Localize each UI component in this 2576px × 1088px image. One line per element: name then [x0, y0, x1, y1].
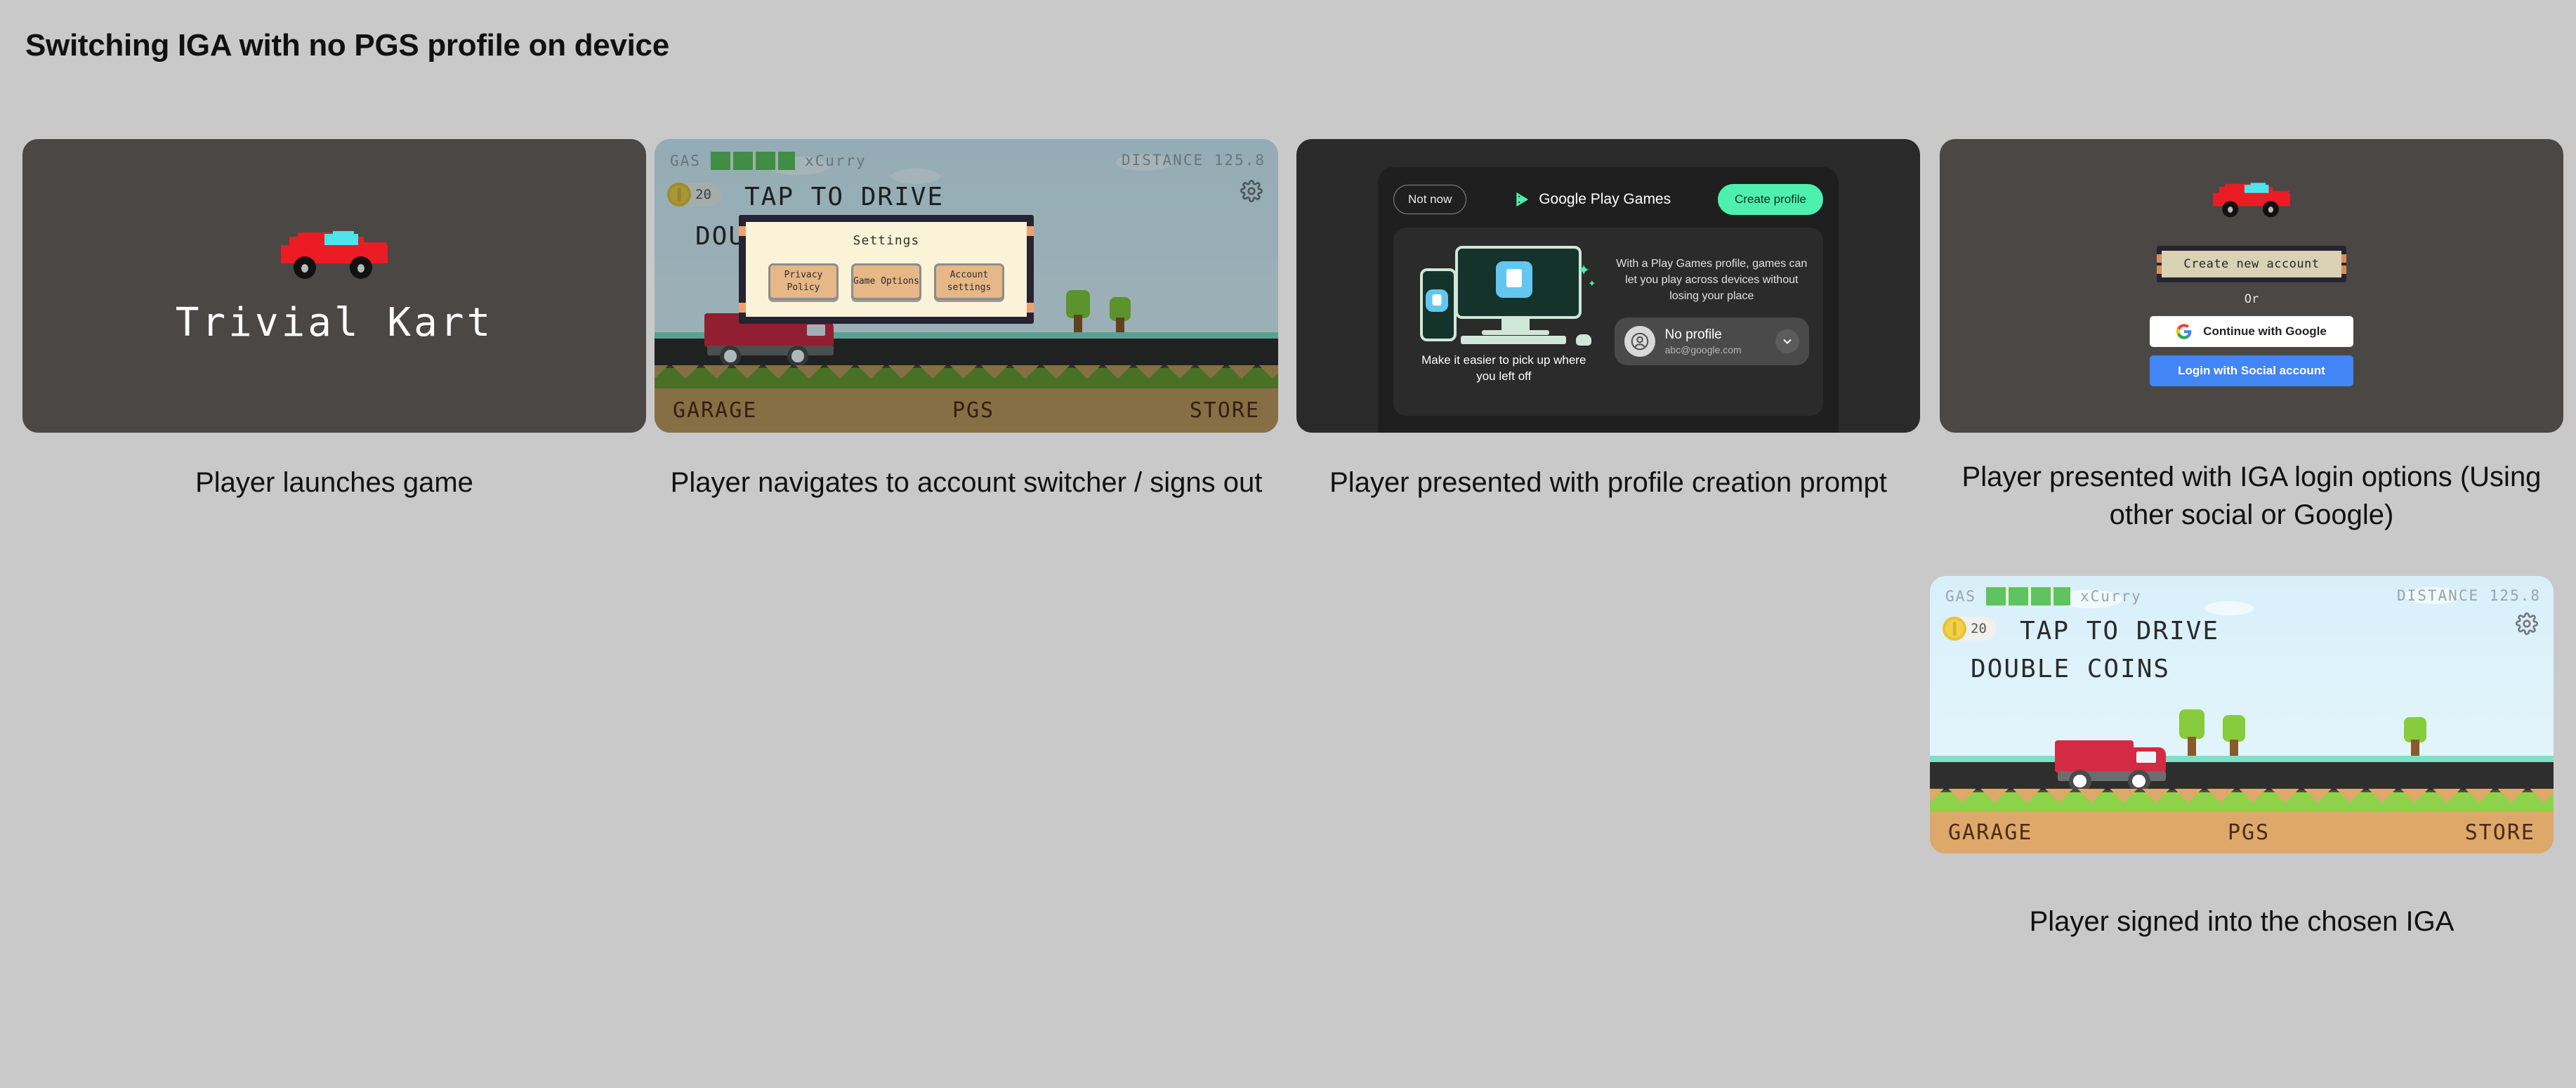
caption-account-switcher: Player navigates to account switcher / s… — [655, 464, 1278, 502]
settings-modal-title: Settings — [746, 233, 1027, 248]
continue-with-google-button[interactable]: Continue with Google — [2150, 316, 2353, 347]
card-iga-login-options[interactable]: Create new account Or Continue with Goog… — [1940, 139, 2563, 433]
chevron-down-icon[interactable] — [1775, 329, 1799, 353]
player-nickname: xCurry — [805, 152, 867, 169]
game-options-button[interactable]: Game Options — [851, 263, 921, 300]
nav-garage[interactable]: GARAGE — [1948, 820, 2032, 845]
distance-value: 125.8 — [2490, 587, 2541, 604]
slide-canvas: Switching IGA with no PGS profile on dev… — [0, 0, 2576, 1088]
card-signed-in-game[interactable]: GAS xCurry DISTANCE 125.8 20 TAP TO DRIV… — [1930, 576, 2554, 853]
profile-blurb: With a Play Games profile, games can let… — [1615, 256, 1809, 305]
game-scene-dimmed: GAS xCurry DISTANCE 125.8 20 TAP TO DRIV… — [655, 139, 1278, 433]
caption-iga-login-options: Player presented with IGA login options … — [1940, 458, 2563, 535]
nav-store[interactable]: STORE — [2465, 820, 2535, 845]
nav-store[interactable]: STORE — [1190, 398, 1260, 423]
create-new-account-label: Create new account — [2183, 257, 2319, 271]
create-new-account-button[interactable]: Create new account — [2157, 246, 2346, 282]
coin-counter: 20 — [1943, 617, 1997, 641]
coin-icon — [667, 183, 691, 207]
tree-icon — [2179, 713, 2204, 762]
game-scene: GAS xCurry DISTANCE 125.8 20 TAP TO DRIV… — [1930, 576, 2554, 853]
gear-icon[interactable] — [2516, 612, 2538, 635]
tree-icon — [2223, 719, 2245, 762]
nav-pgs[interactable]: PGS — [2228, 820, 2270, 845]
bottom-nav: GARAGE PGS STORE — [655, 398, 1278, 423]
distance-label: DISTANCE — [1122, 152, 1204, 169]
truck-icon — [2055, 739, 2176, 791]
or-divider-text: Or — [2245, 292, 2259, 306]
account-settings-button[interactable]: Account settings — [934, 263, 1004, 300]
coin-icon — [1943, 617, 1966, 641]
game-title: Trivial Kart — [176, 300, 494, 346]
avatar-icon — [1624, 326, 1655, 357]
google-logo-icon — [2176, 324, 2192, 339]
gas-bar — [711, 152, 795, 170]
distance-value: 125.8 — [1214, 152, 1266, 169]
profile-selector[interactable]: No profile abc@google.com — [1615, 317, 1809, 365]
play-games-header: Not now Google Play Games Create profile — [1393, 180, 1823, 219]
card-player-launches-game[interactable]: Trivial Kart — [22, 139, 646, 433]
bottom-nav: GARAGE PGS STORE — [1930, 820, 2554, 845]
continue-with-google-label: Continue with Google — [2203, 325, 2327, 339]
coin-counter: 20 — [667, 183, 721, 207]
play-games-logo-icon — [1513, 190, 1532, 209]
caption-player-launches-game: Player launches game — [22, 464, 646, 502]
caption-signed-in-game: Player signed into the chosen IGA — [1930, 903, 2554, 940]
create-profile-button[interactable]: Create profile — [1718, 184, 1823, 215]
coin-amount: 20 — [695, 187, 711, 202]
hud-line-1: TAP TO DRIVE — [744, 183, 944, 211]
devices-caption: Make it easier to pick up where you left… — [1416, 353, 1591, 385]
play-games-brand-text: Google Play Games — [1539, 191, 1671, 208]
caption-profile-creation-prompt: Player presented with profile creation p… — [1296, 464, 1920, 502]
gas-label: GAS — [1945, 588, 1976, 605]
settings-modal[interactable]: Settings Privacy Policy Game Options Acc… — [739, 215, 1034, 324]
play-games-sheet: Not now Google Play Games Create profile — [1378, 167, 1839, 433]
hud-line-2: DOUBLE COINS — [1971, 655, 2170, 683]
not-now-button[interactable]: Not now — [1393, 185, 1466, 214]
card-profile-creation-prompt[interactable]: Not now Google Play Games Create profile — [1296, 139, 1920, 433]
profile-name: No profile — [1665, 327, 1766, 343]
coin-amount: 20 — [1971, 621, 1987, 636]
privacy-policy-button[interactable]: Privacy Policy — [768, 263, 839, 300]
distance-label: DISTANCE — [2397, 587, 2479, 604]
player-nickname: xCurry — [2080, 588, 2142, 605]
nav-pgs[interactable]: PGS — [952, 398, 994, 423]
login-with-social-button[interactable]: Login with Social account — [2150, 355, 2353, 386]
hud-line-1: TAP TO DRIVE — [2020, 617, 2219, 645]
nav-garage[interactable]: GARAGE — [673, 398, 757, 423]
splash-screen: Trivial Kart — [22, 139, 646, 433]
red-pixel-car-icon — [278, 227, 390, 282]
gear-icon[interactable] — [1240, 180, 1263, 202]
devices-illustration: ✦ ✦ — [1416, 246, 1591, 344]
play-games-brand: Google Play Games — [1513, 190, 1671, 209]
card-account-switcher[interactable]: GAS xCurry DISTANCE 125.8 20 TAP TO DRIV… — [655, 139, 1278, 433]
gas-label: GAS — [670, 152, 701, 169]
red-pixel-car-icon — [2211, 180, 2292, 219]
page-title: Switching IGA with no PGS profile on dev… — [25, 28, 669, 63]
profile-email: abc@google.com — [1665, 344, 1766, 355]
gas-bar — [1986, 587, 2070, 605]
